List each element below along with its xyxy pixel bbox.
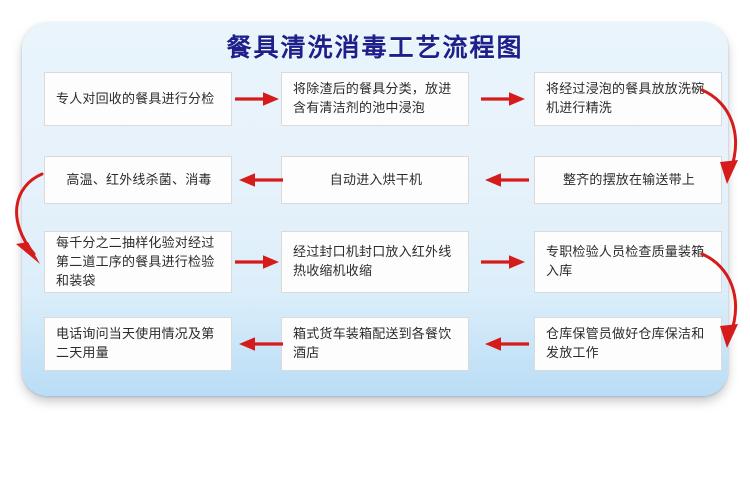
process-node-1[interactable]: 专人对回收的餐具进行分检 [44, 72, 232, 126]
process-node-10[interactable]: 电话询问当天使用情况及第二天用量 [44, 317, 232, 371]
arrow-right-icon-n1-n2 [235, 89, 283, 109]
node-label: 每千分之二抽样化验对经过第二道工序的餐具进行检验和装袋 [56, 234, 222, 291]
node-label: 电话询问当天使用情况及第二天用量 [56, 325, 222, 363]
process-node-4[interactable]: 高温、红外线杀菌、消毒 [44, 156, 232, 204]
node-label: 箱式货车装箱配送到各餐饮酒店 [293, 325, 459, 363]
process-node-9[interactable]: 专职检验人员检查质量装箱入库 [534, 231, 722, 293]
node-label: 专人对回收的餐具进行分检 [56, 90, 214, 109]
node-label: 仓库保管员做好仓库保洁和发放工作 [546, 325, 712, 363]
arrow-left-icon-n12-n11 [481, 334, 529, 354]
node-label: 将除渣后的餐具分类，放进含有清洁剂的池中浸泡 [293, 80, 459, 118]
process-node-12[interactable]: 仓库保管员做好仓库保洁和发放工作 [534, 317, 722, 371]
arrow-right-icon-n7-n8 [235, 252, 283, 272]
process-node-8[interactable]: 经过封口机封口放入红外线热收缩机收缩 [281, 231, 469, 293]
flowchart-canvas: 餐具清洗消毒工艺流程图 专人对回收的餐具进行分检 将除渣后的餐具分类，放进含有清… [0, 0, 750, 491]
node-label: 高温、红外线杀菌、消毒 [66, 171, 211, 190]
node-label: 经过封口机封口放入红外线热收缩机收缩 [293, 243, 459, 281]
curved-connector-n3-n6 [700, 86, 750, 196]
arrow-right-icon-n8-n9 [481, 252, 529, 272]
node-label: 将经过浸泡的餐具放放洗碗机进行精洗 [546, 80, 712, 118]
arrow-left-icon-n5-n4 [235, 170, 283, 190]
node-label: 自动进入烘干机 [330, 171, 422, 190]
process-node-3[interactable]: 将经过浸泡的餐具放放洗碗机进行精洗 [534, 72, 722, 126]
arrow-left-icon-n11-n10 [235, 334, 283, 354]
process-node-6[interactable]: 整齐的摆放在输送带上 [534, 156, 722, 204]
process-node-7[interactable]: 每千分之二抽样化验对经过第二道工序的餐具进行检验和装袋 [44, 231, 232, 293]
curved-connector-n9-n12 [700, 250, 750, 360]
process-node-11[interactable]: 箱式货车装箱配送到各餐饮酒店 [281, 317, 469, 371]
flowchart-panel: 餐具清洗消毒工艺流程图 专人对回收的餐具进行分检 将除渣后的餐具分类，放进含有清… [22, 22, 728, 396]
arrow-right-icon-n2-n3 [481, 89, 529, 109]
curved-connector-n4-n7 [8, 170, 68, 280]
process-node-5[interactable]: 自动进入烘干机 [281, 156, 469, 204]
node-label: 专职检验人员检查质量装箱入库 [546, 243, 712, 281]
arrow-left-icon-n6-n5 [481, 170, 529, 190]
page-title: 餐具清洗消毒工艺流程图 [22, 32, 728, 64]
node-label: 整齐的摆放在输送带上 [563, 171, 695, 190]
process-node-2[interactable]: 将除渣后的餐具分类，放进含有清洁剂的池中浸泡 [281, 72, 469, 126]
